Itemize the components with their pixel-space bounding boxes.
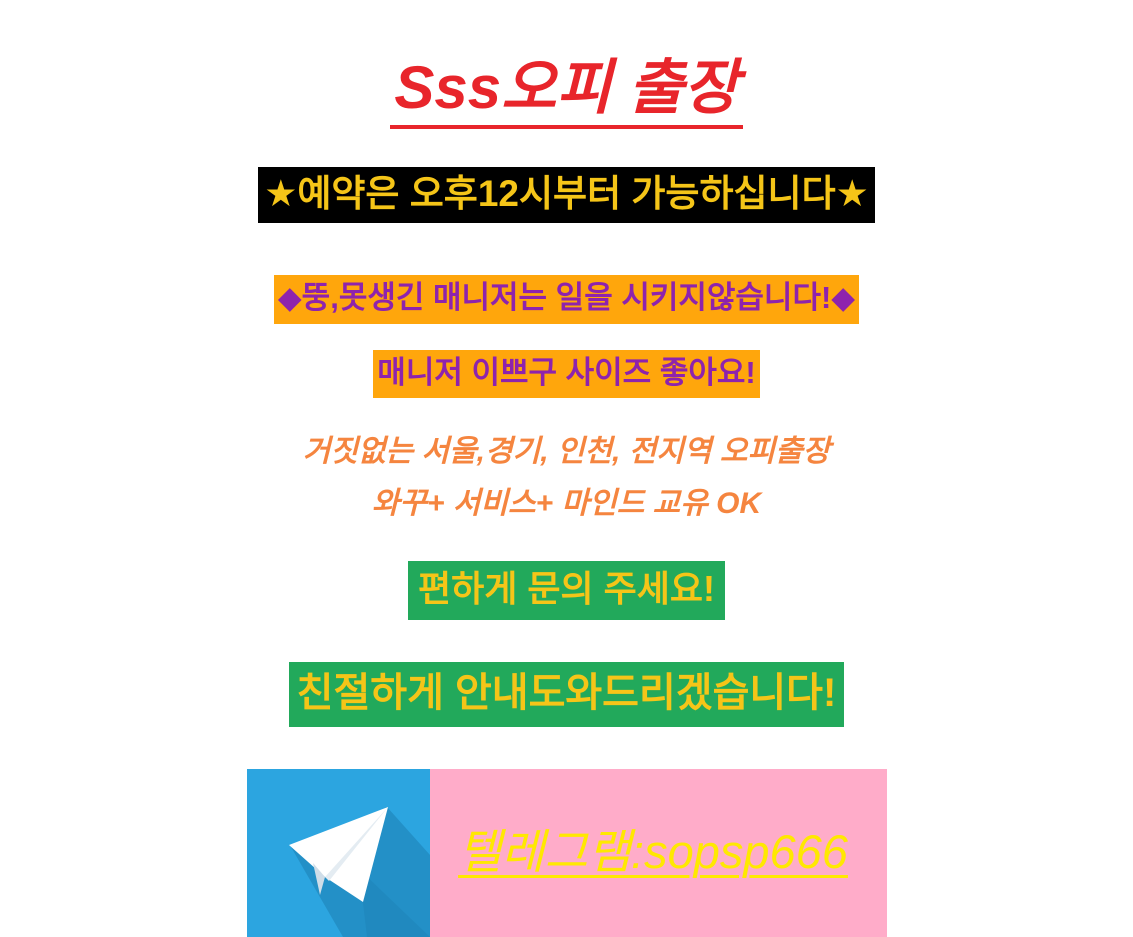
cta-band-2: 친절하게 안내도와드리겠습니다! [289,662,845,727]
highlight-band-2-container: 매니저 이쁘구 사이즈 좋아요! [373,350,759,398]
service-line-2: 와꾸+ 서비스+ 마인드 교유 OK [303,478,831,531]
highlight-band-1-container: ◆뚱,못생긴 매니저는 일을 시키지않습니다!◆ [274,275,859,323]
contact-block[interactable]: 텔레그램:sopsp666 [247,769,887,937]
cta-band-2-container: 친절하게 안내도와드리겠습니다! [289,662,845,727]
cta-band-1-container: 편하게 문의 주세요! [408,561,725,620]
page-title-container: Sss오피 출장 [390,56,742,129]
highlight-band-1: ◆뚱,못생긴 매니저는 일을 시키지않습니다!◆ [274,275,859,323]
cta-band-1: 편하게 문의 주세요! [408,561,725,620]
service-lines-container: 거짓없는 서울,경기, 인천, 전지역 오피출장 와꾸+ 서비스+ 마인드 교유… [303,426,831,531]
telegram-handle-tile[interactable]: 텔레그램:sopsp666 [430,769,887,937]
advertisement-page: Sss오피 출장 ★예약은 오후12시부터 가능하십니다★ ◆뚱,못생긴 매니저… [0,0,1133,904]
highlight-band-2: 매니저 이쁘구 사이즈 좋아요! [373,350,759,398]
telegram-paper-plane-icon [247,769,430,937]
notice-banner: ★예약은 오후12시부터 가능하십니다★ [258,167,875,223]
service-line-1: 거짓없는 서울,경기, 인천, 전지역 오피출장 [303,426,831,479]
telegram-handle-text[interactable]: 텔레그램:sopsp666 [458,824,858,880]
notice-banner-container: ★예약은 오후12시부터 가능하십니다★ [258,167,875,223]
telegram-logo-tile [247,769,430,937]
page-title: Sss오피 출장 [390,56,742,129]
